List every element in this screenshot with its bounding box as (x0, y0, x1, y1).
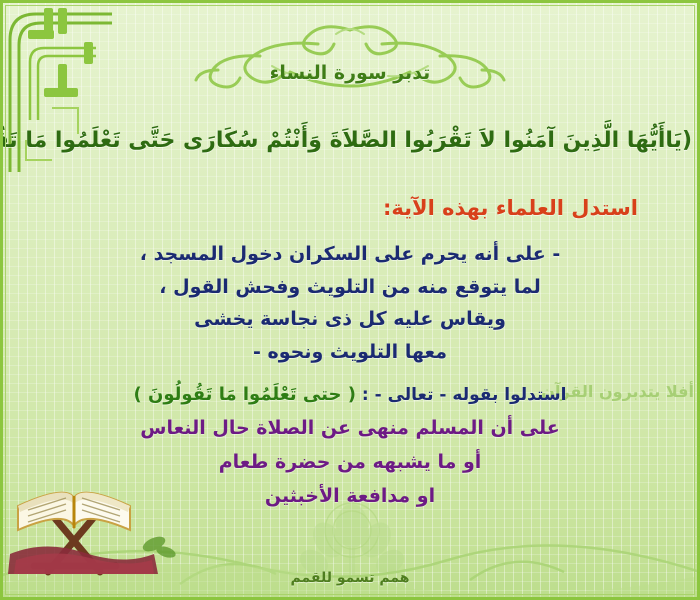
argument-one-block: - على أنه يحرم على السكران دخول المسجد ،… (0, 238, 700, 369)
citation-line: استدلوا بقوله - تعالى - : ( حتى تَعْلَمُ… (0, 384, 700, 405)
argument-line: لما يتوقع منه من التلويث وفحش القول ، (0, 271, 700, 304)
citation-quote: ( حتى تَعْلَمُوا مَا تَقُولُونَ ) (134, 384, 356, 405)
title-zone: تدبر سورة النساء (0, 22, 700, 94)
quran-book-illustration (4, 448, 184, 578)
poster-canvas: تدبر سورة النساء (يَاأَيُّهَا الَّذِينَ … (0, 0, 700, 600)
footer-text: همم تسمو للقمم (0, 570, 700, 586)
section-heading: استدل العلماء بهذه الآية: (383, 196, 638, 220)
page-title: تدبر سورة النساء (0, 62, 700, 84)
argument-line: ويقاس عليه كل ذى نجاسة يخشى (0, 303, 700, 336)
quran-ayah-text: (يَاأَيُّهَا الَّذِينَ آمَنُوا لاَ تَقْر… (8, 128, 692, 153)
argument-line: على أن المسلم منهى عن الصلاة حال النعاس (0, 412, 700, 446)
argument-line: - على أنه يحرم على السكران دخول المسجد ، (0, 238, 700, 271)
citation-lead: استدلوا بقوله - تعالى - : (356, 385, 567, 405)
argument-line: معها التلويث ونحوه - (0, 336, 700, 369)
